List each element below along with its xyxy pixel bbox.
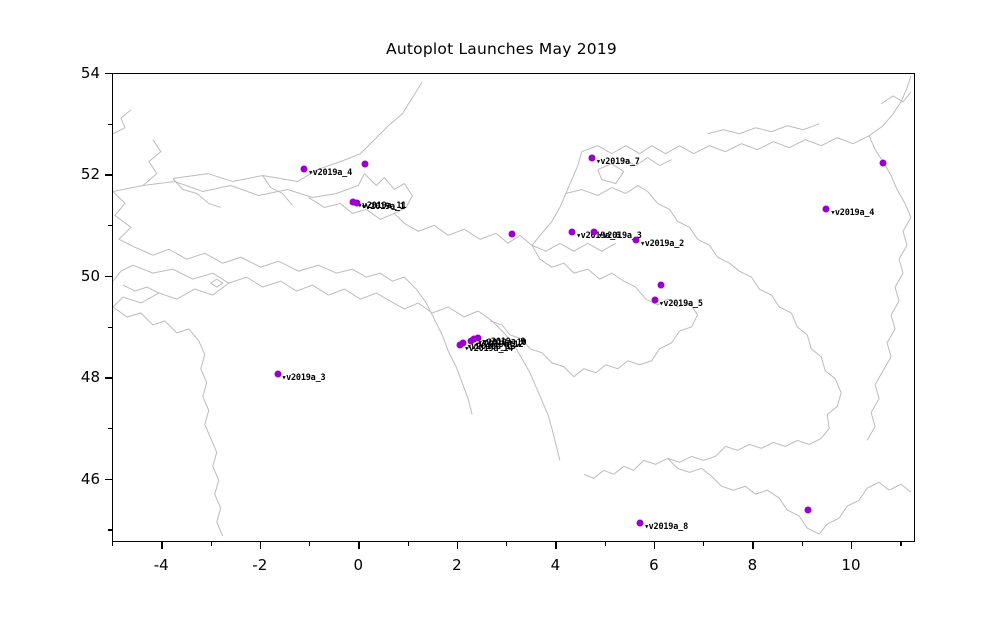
x-axis-minor-tick [309, 542, 310, 546]
x-axis-major-tick [260, 542, 261, 549]
label-text: v2019a_8 [649, 522, 688, 532]
scatter-point-label: ▾v2019a_5 [659, 299, 703, 309]
y-axis-minor-tick [108, 225, 112, 226]
x-axis-major-tick [358, 542, 359, 549]
x-axis-tick-label: 6 [649, 556, 659, 574]
scatter-point [301, 165, 308, 172]
x-axis-major-tick [851, 542, 852, 549]
scatter-point [588, 154, 595, 161]
scatter-point [569, 229, 576, 236]
scatter-point-label: ▾v2019a_7 [596, 157, 640, 167]
scatter-point-label: ▾v2019a_2 [640, 239, 684, 249]
x-axis-tick-label: 8 [748, 556, 758, 574]
scatter-point-label: ▾v2019a_1 [361, 202, 405, 212]
scatter-points-layer: ▾v2019a_4▾v2019a_11▾v2019a_1▾v2019a_7▾v2… [113, 74, 914, 541]
page-title: Autoplot Launches May 2019 [0, 40, 1003, 58]
scatter-point [590, 229, 597, 236]
y-axis-minor-tick [108, 327, 112, 328]
x-axis-minor-tick [605, 542, 606, 546]
x-axis-tick-label: -2 [252, 556, 267, 574]
y-axis-major-tick [105, 377, 112, 378]
y-axis-tick-label: 48 [56, 368, 100, 386]
scatter-point [657, 282, 664, 289]
scatter-point [804, 507, 811, 514]
x-axis-tick-label: 2 [452, 556, 462, 574]
x-axis-major-tick [457, 542, 458, 549]
x-axis-minor-tick [802, 542, 803, 546]
x-axis-minor-tick [900, 542, 901, 546]
y-axis-major-tick [105, 73, 112, 74]
scatter-point-label: ▾v2019a_4 [830, 208, 874, 218]
scatter-point [274, 371, 281, 378]
y-axis-tick-label: 54 [56, 64, 100, 82]
label-text: v2019a_4 [835, 208, 874, 218]
y-axis-tick-label: 52 [56, 165, 100, 183]
y-axis-major-tick [105, 174, 112, 175]
scatter-point [651, 296, 658, 303]
scatter-point [509, 230, 516, 237]
x-axis-major-tick [161, 542, 162, 549]
scatter-point [823, 206, 830, 213]
label-text: v2019a_5 [663, 299, 702, 309]
scatter-point [457, 341, 464, 348]
scatter-point-label: ▾v2019a_4 [308, 168, 352, 178]
plot-axes-area[interactable]: ▾v2019a_4▾v2019a_11▾v2019a_1▾v2019a_7▾v2… [112, 73, 915, 542]
x-axis-tick-label: 0 [354, 556, 364, 574]
x-axis-major-tick [555, 542, 556, 549]
scatter-point-label: ▾v2019a_14 [464, 344, 513, 354]
x-axis-major-tick [752, 542, 753, 549]
x-axis-major-tick [654, 542, 655, 549]
x-axis-minor-tick [408, 542, 409, 546]
x-axis-tick-label: 10 [841, 556, 860, 574]
label-text: v2019a_7 [600, 157, 639, 167]
label-text: v2019a_2 [645, 239, 684, 249]
scatter-point [637, 519, 644, 526]
y-axis-major-tick [105, 276, 112, 277]
scatter-point [353, 200, 360, 207]
label-text: v2019a_3 [286, 373, 325, 383]
x-axis-minor-tick [112, 542, 113, 546]
x-axis-minor-tick [211, 542, 212, 546]
scatter-point [879, 159, 886, 166]
label-text: v2019a_1 [365, 202, 404, 212]
label-text: v2019a_4 [313, 168, 352, 178]
y-axis-minor-tick [108, 529, 112, 530]
y-axis-minor-tick [108, 124, 112, 125]
x-axis-tick-label: -4 [154, 556, 169, 574]
y-axis-tick-label: 50 [56, 267, 100, 285]
scatter-point-label: ▾v2019a_8 [644, 522, 688, 532]
x-axis-tick-label: 4 [551, 556, 561, 574]
x-axis-minor-tick [703, 542, 704, 546]
y-axis-tick-label: 46 [56, 470, 100, 488]
scatter-point [362, 161, 369, 168]
label-text: v2019a_14 [469, 344, 513, 354]
scatter-point-label: ▾v2019a_3 [282, 373, 326, 383]
y-axis-major-tick [105, 479, 112, 480]
figure-canvas: Autoplot Launches May 2019 [0, 0, 1003, 633]
scatter-point [633, 237, 640, 244]
y-axis-minor-tick [108, 428, 112, 429]
x-axis-minor-tick [506, 542, 507, 546]
